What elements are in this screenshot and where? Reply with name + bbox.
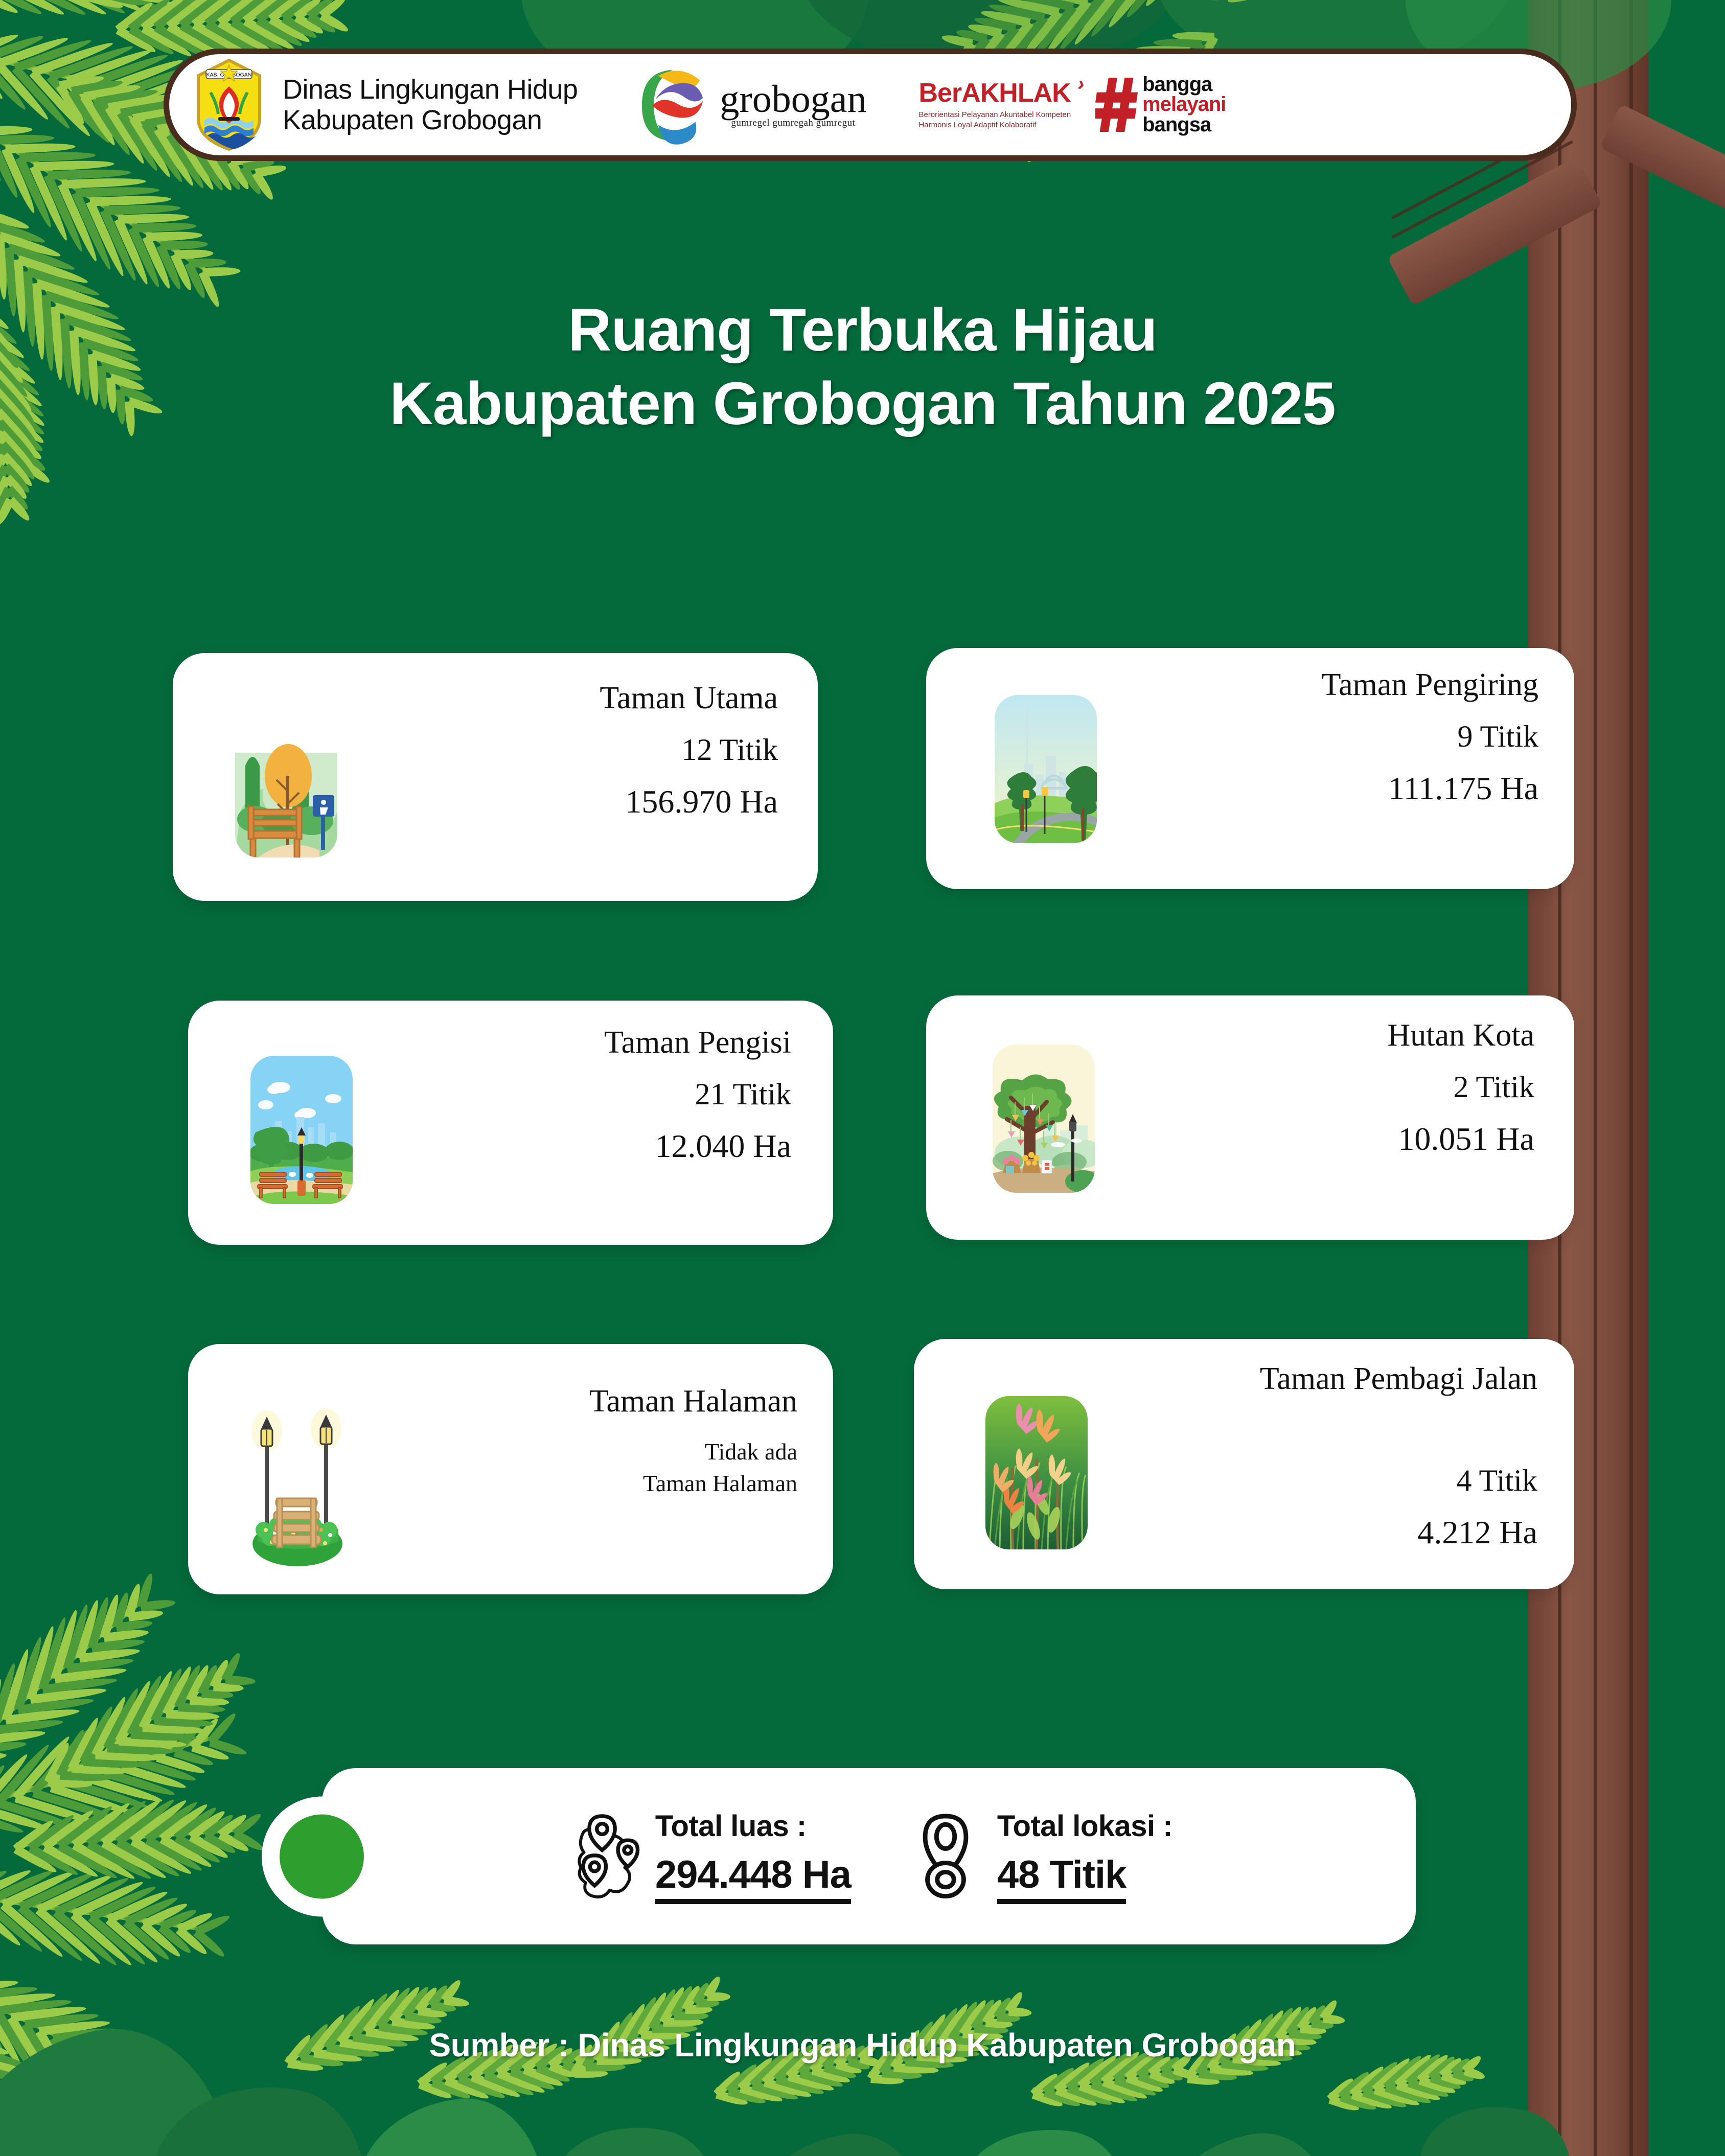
palm-leaflet bbox=[988, 2, 1045, 22]
palm-leaflet bbox=[72, 1879, 145, 1919]
palm-leaflet bbox=[0, 231, 62, 260]
palm-leaflet bbox=[51, 1609, 80, 1680]
palm-leaflet bbox=[189, 258, 227, 268]
palm-leaflet bbox=[282, 14, 318, 40]
palm-leaflet bbox=[997, 0, 1060, 16]
palm-leaflet bbox=[103, 1628, 149, 1642]
palm-leaflet bbox=[123, 1919, 172, 1963]
palm-leaflet bbox=[751, 2081, 799, 2103]
palm-leaflet bbox=[210, 1658, 231, 1689]
palm-leaflet bbox=[118, 213, 190, 224]
palm-leaflet bbox=[121, 1764, 187, 1791]
urban-forest-big-tree-illustration-icon bbox=[993, 1045, 1095, 1193]
palm-leaflet bbox=[5, 142, 76, 153]
palm-leaflet bbox=[0, 1740, 27, 1755]
palm-leaflet bbox=[159, 1907, 198, 1931]
palm-leaflet bbox=[0, 236, 9, 300]
palm-leaflet bbox=[1327, 2076, 1355, 2103]
leaf-shape bbox=[1156, 2123, 1339, 2156]
palm-leaflet bbox=[0, 453, 8, 494]
palm-leaflet bbox=[174, 1834, 222, 1866]
palm-leaflet bbox=[415, 1985, 440, 2014]
palm-leaflet bbox=[221, 1651, 243, 1682]
card-points: 2 Titik bbox=[1177, 1067, 1534, 1107]
palm-leaflet bbox=[1452, 2069, 1475, 2084]
leaf-shape bbox=[350, 2091, 549, 2156]
palm-leaflet bbox=[727, 2087, 766, 2106]
palm-leaflet bbox=[1, 1902, 66, 1960]
palm-leaflet bbox=[232, 1811, 263, 1837]
palm-leaflet bbox=[116, 26, 157, 55]
palm-leaflet bbox=[0, 1997, 72, 2015]
palm-leaflet bbox=[116, 1838, 181, 1880]
palm-leaflet bbox=[428, 1983, 450, 2008]
palm-leaflet bbox=[1056, 0, 1105, 54]
palm-leaflet bbox=[156, 244, 183, 291]
palm-leaflet bbox=[974, 15, 1017, 32]
palm-leaflet bbox=[0, 2154, 9, 2156]
palm-leaflet bbox=[704, 1975, 723, 1999]
palm-leaflet bbox=[119, 1737, 187, 1749]
palm-leaflet bbox=[9, 451, 25, 482]
palm-leaflet bbox=[209, 1738, 248, 1757]
palm-leaflet bbox=[893, 2063, 939, 2075]
palm-leaflet bbox=[189, 1716, 221, 1750]
palm-leaflet bbox=[2, 1648, 32, 1721]
palm-leaflet bbox=[1137, 2072, 1170, 2091]
card-points: 9 Titik bbox=[1170, 716, 1538, 757]
palm-leaflet bbox=[256, 0, 301, 24]
palm-leaflet bbox=[0, 1899, 45, 1955]
palm-leaflet bbox=[764, 2078, 813, 2100]
palm-leaflet bbox=[0, 1978, 18, 1995]
palm-leaflet bbox=[20, 2098, 87, 2124]
palm-leaflet bbox=[1106, 0, 1148, 30]
palm-leaflet bbox=[218, 1812, 249, 1838]
palm-leaflet bbox=[201, 1689, 234, 1700]
palm-leaflet bbox=[29, 2108, 95, 2134]
palm-leaflet bbox=[1088, 0, 1134, 39]
palm-leaflet bbox=[90, 0, 144, 9]
palm-leaflet bbox=[470, 2073, 521, 2100]
palm-leaflet bbox=[100, 1593, 121, 1639]
palm-leaflet bbox=[18, 1904, 85, 1964]
palm-leaflet bbox=[233, 1830, 265, 1853]
palm-leaflet bbox=[48, 1722, 110, 1791]
palm-leaflet bbox=[1351, 2091, 1393, 2112]
palm-leaflet bbox=[0, 1728, 46, 1745]
palm-leaflet bbox=[158, 1924, 193, 1956]
berakhlak-wordmark: BerAKHLAK › bbox=[918, 80, 1071, 106]
palm-leaflet bbox=[574, 2069, 608, 2078]
total-luas-label: Total luas : bbox=[655, 1809, 851, 1843]
palm-leaflet bbox=[1090, 2080, 1138, 2104]
palm-leaflet bbox=[523, 2066, 564, 2089]
palm-leaflet bbox=[0, 130, 4, 183]
palm-leaflet bbox=[243, 17, 296, 53]
palm-leaflet bbox=[1008, 2007, 1032, 2018]
palm-leaflet bbox=[83, 1715, 142, 1780]
palm-leaflet bbox=[1322, 2014, 1345, 2025]
location-pin-icon bbox=[907, 1813, 984, 1900]
palm-leaflet bbox=[174, 249, 213, 259]
palm-leaflet bbox=[145, 1799, 200, 1843]
palm-leaflet bbox=[882, 2069, 923, 2080]
palm-leaflet bbox=[227, 160, 251, 192]
palm-leaflet bbox=[30, 165, 71, 242]
palm-leaflet bbox=[192, 0, 249, 28]
palm-leaflet bbox=[99, 87, 163, 156]
palm-leaflet bbox=[823, 2063, 857, 2080]
palm-leaflet bbox=[72, 1841, 136, 1882]
total-lokasi-value: 48 Titik bbox=[997, 1852, 1126, 1904]
palm-leaflet bbox=[1227, 0, 1265, 5]
palm-leaflet bbox=[994, 1996, 1014, 2020]
page-title: Ruang Terbuka Hijau Kabupaten Grobogan T… bbox=[0, 294, 1725, 441]
palm-leaflet bbox=[0, 134, 55, 145]
palm-leaflet bbox=[225, 1676, 256, 1686]
hashtag-icon bbox=[1095, 77, 1139, 132]
palm-frond bbox=[0, 124, 208, 273]
palm-leaflet bbox=[256, 16, 304, 49]
palm-leaflet bbox=[213, 1682, 244, 1693]
palm-leaflet bbox=[101, 1839, 168, 1882]
palm-leaflet bbox=[549, 2062, 578, 2080]
palm-leaflet bbox=[0, 1799, 73, 1829]
palm-leaflet bbox=[114, 218, 151, 286]
palm-leaflet bbox=[80, 95, 118, 148]
palm-leaflet bbox=[726, 2061, 760, 2094]
palm-leaflet bbox=[47, 74, 112, 146]
palm-leaflet bbox=[307, 13, 337, 35]
palm-leaflet bbox=[306, 0, 335, 20]
palm-leaflet bbox=[202, 267, 241, 277]
palm-leaflet bbox=[57, 1803, 114, 1850]
bangga-melayani-bangsa-logo: bangga melayani bangsa bbox=[1095, 75, 1226, 135]
palm-leaflet bbox=[50, 0, 126, 17]
palm-leaflet bbox=[136, 1715, 181, 1766]
palm-leaflet bbox=[86, 1840, 153, 1882]
palm-leaflet bbox=[50, 1784, 133, 1817]
palm-leaflet bbox=[117, 111, 160, 173]
palm-leaflet bbox=[294, 14, 325, 37]
palm-leaflet bbox=[124, 1894, 179, 1926]
palm-leaflet bbox=[130, 1797, 189, 1845]
palm-leaflet bbox=[294, 0, 323, 21]
palm-leaflet bbox=[536, 2064, 571, 2084]
palm-leaflet bbox=[941, 33, 973, 48]
palm-leaflet bbox=[1430, 2074, 1462, 2092]
palm-leaflet bbox=[136, 1572, 155, 1608]
palm-leaflet bbox=[28, 1812, 76, 1851]
total-lokasi-group: Total lokasi : 48 Titik bbox=[907, 1809, 1172, 1904]
palm-leaflet bbox=[14, 1636, 44, 1711]
palm-leaflet bbox=[0, 1984, 38, 2001]
palm-leaflet bbox=[56, 83, 87, 126]
palm-leaflet bbox=[89, 1883, 157, 1921]
palm-leaflet bbox=[1042, 2065, 1076, 2096]
palm-leaflet bbox=[143, 1723, 206, 1735]
palm-leaflet bbox=[1209, 0, 1253, 4]
palm-leaflet bbox=[319, 0, 348, 19]
palm-leaflet bbox=[4, 475, 29, 501]
palm-frond bbox=[0, 2077, 9, 2156]
palm-leaflet bbox=[48, 1778, 93, 1789]
card-taman-halaman-text: Taman Halaman Tidak ada Taman Halaman bbox=[409, 1381, 797, 1499]
source-footer: Sumber : Dinas Lingkungan Hidup Kabupate… bbox=[0, 2026, 1725, 2064]
palm-leaflet bbox=[119, 1714, 169, 1771]
palm-leaflet bbox=[430, 2001, 456, 2013]
palm-leaflet bbox=[0, 61, 51, 122]
palm-leaflet bbox=[1187, 2074, 1220, 2086]
card-note: Tidak ada Taman Halaman bbox=[409, 1436, 797, 1499]
palm-leaflet bbox=[35, 1907, 103, 1967]
palm-leaflet bbox=[1349, 2064, 1386, 2098]
palm-leaflet bbox=[83, 51, 170, 89]
palm-leaflet bbox=[65, 1718, 126, 1786]
palm-leaflet bbox=[95, 1751, 160, 1763]
palm-leaflet bbox=[714, 2069, 743, 2098]
grobogan-logo: grobogan gumregel gumregah gumregut bbox=[635, 64, 866, 146]
palm-leaflet bbox=[13, 1818, 55, 1853]
palm-leaflet bbox=[0, 498, 14, 526]
palm-leaflet bbox=[29, 69, 93, 139]
palm-leaflet bbox=[11, 2004, 87, 2022]
palm-leaflet bbox=[0, 1751, 7, 1766]
palm-leaflet bbox=[1385, 2083, 1432, 2106]
palm-leaflet bbox=[64, 78, 130, 150]
palm-leaflet bbox=[0, 1662, 18, 1731]
garden-bench-lamps-illustration-icon bbox=[248, 1408, 351, 1572]
card-area: 12.040 Ha bbox=[433, 1125, 791, 1168]
palm-leaflet bbox=[0, 0, 43, 17]
palm-leaflet bbox=[79, 1647, 140, 1662]
flower-median-illustration-icon bbox=[985, 1396, 1088, 1549]
card-title: Taman Halaman bbox=[409, 1381, 797, 1423]
palm-leaflet bbox=[1199, 2069, 1237, 2082]
card-title: Hutan Kota bbox=[1177, 1015, 1534, 1057]
palm-leaflet bbox=[28, 1844, 80, 1878]
palm-leaflet bbox=[42, 1676, 118, 1694]
green-dot-icon bbox=[262, 1796, 382, 1916]
palm-leaflet bbox=[0, 138, 21, 200]
palm-leaflet bbox=[19, 1869, 96, 1912]
palm-leaflet bbox=[106, 2064, 132, 2099]
card-taman-pembagi-jalan-text: Taman Pembagi Jalan 4 Titik 4.212 Ha bbox=[1129, 1358, 1537, 1554]
palm-leaflet bbox=[128, 1609, 163, 1621]
palm-leaflet bbox=[57, 1842, 119, 1882]
palm-leaflet bbox=[174, 1748, 215, 1768]
palm-leaflet bbox=[1067, 2084, 1113, 2108]
palm-leaflet bbox=[5, 1707, 80, 1725]
palm-leaflet bbox=[17, 0, 87, 18]
palm-leaflet bbox=[49, 42, 134, 81]
palm-leaflet bbox=[0, 2143, 5, 2156]
palm-frond bbox=[15, 1824, 235, 1850]
card-taman-pengiring: Taman Pengiring 9 Titik 111.175 Ha bbox=[926, 648, 1574, 889]
palm-leaflet bbox=[132, 222, 196, 233]
palm-leaflet bbox=[319, 12, 350, 34]
header-logo-bar: KAB. GROBOGAN Dinas Lingkungan Hidup Kab… bbox=[164, 49, 1577, 161]
palm-leaflet bbox=[154, 1717, 214, 1728]
palm-leaflet bbox=[1078, 2082, 1126, 2106]
palm-leaflet bbox=[65, 2149, 113, 2156]
palm-leaflet bbox=[716, 2090, 749, 2107]
palm-leaflet bbox=[141, 25, 193, 60]
card-hutan-kota: Hutan Kota 2 Titik 10.051 Ha bbox=[926, 995, 1574, 1240]
palm-leaflet bbox=[141, 0, 190, 32]
palm-leaflet bbox=[1328, 2095, 1360, 2113]
palm-leaflet bbox=[123, 2064, 158, 2077]
total-lokasi-label: Total lokasi : bbox=[997, 1809, 1172, 1843]
palm-leaflet bbox=[88, 1914, 148, 1967]
palm-leaflet bbox=[240, 165, 264, 196]
palm-leaflet bbox=[0, 1742, 52, 1806]
tree-branch bbox=[1387, 156, 1603, 306]
palm-leaflet bbox=[12, 1734, 72, 1801]
palm-leaflet bbox=[107, 1888, 169, 1923]
card-title: Taman Pembagi Jalan bbox=[1129, 1358, 1537, 1400]
palm-leaflet bbox=[115, 1679, 153, 1743]
palm-leaflet bbox=[444, 1996, 469, 2008]
palm-leaflet bbox=[107, 1744, 174, 1756]
palm-leaflet bbox=[83, 1757, 145, 1769]
palm-leaflet bbox=[166, 1710, 220, 1721]
palm-leaflet bbox=[2, 147, 38, 215]
palm-leaflet bbox=[997, 2013, 1020, 2023]
palm-frond bbox=[0, 1886, 197, 1933]
palm-leaflet bbox=[177, 1910, 214, 1934]
palm-leaflet bbox=[0, 2072, 7, 2134]
palm-leaflet bbox=[444, 2076, 490, 2101]
palm-leaflet bbox=[130, 1837, 193, 1877]
card-title: Taman Utama bbox=[420, 678, 778, 720]
palm-leaflet bbox=[179, 0, 236, 29]
palm-leaflet bbox=[93, 100, 133, 157]
total-summary-card: Total luas : 294.448 Ha Total lokasi : 4… bbox=[322, 1768, 1416, 1944]
palm-leaflet bbox=[376, 1985, 413, 2029]
palm-leaflet bbox=[659, 1985, 687, 2025]
leaf-shape bbox=[139, 2068, 382, 2156]
palm-leaflet bbox=[203, 1832, 237, 1856]
palm-leaflet bbox=[418, 2006, 448, 2019]
palm-leaflet bbox=[189, 1833, 230, 1861]
palm-leaflet bbox=[62, 2152, 78, 2156]
palm-frond bbox=[43, 1672, 225, 1782]
palm-leaflet bbox=[91, 1695, 129, 1757]
palm-leaflet bbox=[1340, 2093, 1377, 2113]
palm-leaflet bbox=[1396, 2081, 1441, 2103]
palm-leaflet bbox=[35, 2122, 53, 2156]
palm-leaflet bbox=[1020, 0, 1089, 6]
palm-leaflet bbox=[243, 0, 292, 25]
palm-leaflet bbox=[44, 1741, 72, 1784]
palm-leaflet bbox=[1149, 2070, 1176, 2087]
palm-leaflet bbox=[674, 2011, 708, 2020]
grobogan-regency-emblem-icon: KAB. GROBOGAN bbox=[191, 59, 267, 151]
palm-leaflet bbox=[193, 1929, 226, 1959]
palm-leaflet bbox=[174, 1663, 203, 1709]
caret-icon: › bbox=[1076, 73, 1086, 95]
palm-leaflet bbox=[510, 2067, 556, 2093]
leaf-shape bbox=[953, 2117, 1138, 2156]
palm-leaflet bbox=[48, 168, 131, 180]
palm-leaflet bbox=[103, 1769, 176, 1798]
palm-leaflet bbox=[707, 1992, 730, 2001]
palm-leaflet bbox=[17, 256, 89, 286]
card-taman-pengisi-text: Taman Pengisi 21 Titik 12.040 Ha bbox=[433, 1022, 791, 1168]
palm-leaflet bbox=[90, 195, 171, 206]
palm-leaflet bbox=[1054, 2060, 1092, 2094]
palm-leaflet bbox=[799, 2069, 844, 2090]
palm-leaflet bbox=[54, 1874, 130, 1916]
palm-leaflet bbox=[38, 1616, 68, 1691]
palm-leaflet bbox=[59, 74, 105, 90]
palm-leaflet bbox=[71, 1912, 134, 1968]
palm-leaflet bbox=[31, 39, 114, 77]
palm-leaflet bbox=[1125, 2074, 1164, 2095]
palm-leaflet bbox=[166, 0, 221, 30]
palm-leaflet bbox=[176, 1927, 209, 1957]
palm-leaflet bbox=[58, 182, 100, 263]
palm-leaflet bbox=[54, 1666, 127, 1683]
card-area: 111.175 Ha bbox=[1170, 767, 1538, 810]
palm-leaflet bbox=[116, 0, 187, 5]
palm-leaflet bbox=[787, 2072, 835, 2094]
palm-leaflet bbox=[967, 22, 1002, 37]
palm-leaflet bbox=[496, 2069, 546, 2096]
palm-leaflet bbox=[0, 208, 30, 231]
palm-leaflet bbox=[1030, 2071, 1060, 2097]
card-taman-pembagi-jalan: Taman Pembagi Jalan 4 Titik 4.212 Ha bbox=[914, 1339, 1574, 1589]
palm-leaflet bbox=[1418, 2076, 1457, 2096]
palm-leaflet bbox=[955, 28, 987, 42]
palm-leaflet bbox=[26, 2112, 44, 2156]
palm-leaflet bbox=[67, 0, 144, 15]
palm-leaflet bbox=[96, 87, 158, 106]
bangsa-text: bangsa bbox=[1142, 115, 1226, 135]
palm-frond bbox=[1328, 2061, 1465, 2100]
palm-frond bbox=[0, 1733, 211, 1819]
palm-leaflet bbox=[1161, 2068, 1184, 2083]
tree-branch bbox=[1600, 104, 1725, 215]
palm-leaflet bbox=[44, 174, 86, 253]
palm-leaflet bbox=[103, 1686, 142, 1750]
palm-leaflet bbox=[13, 1845, 58, 1875]
department-name: Dinas Lingkungan Hidup Kabupaten Groboga… bbox=[283, 74, 578, 136]
palm-leaflet bbox=[388, 1984, 422, 2024]
palm-leaflet bbox=[0, 1991, 56, 2008]
lakeside-park-benches-illustration-icon bbox=[250, 1056, 353, 1204]
palm-leaflet bbox=[42, 1807, 96, 1851]
grobogan-swirl-logo-icon bbox=[635, 64, 711, 146]
palm-leaflet bbox=[80, 1705, 116, 1764]
palm-frond bbox=[1031, 2060, 1174, 2095]
palm-leaflet bbox=[26, 1625, 57, 1701]
palm-leaflet bbox=[0, 0, 20, 16]
palm-leaflet bbox=[1361, 2059, 1400, 2095]
palm-leaflet bbox=[693, 1981, 711, 2005]
bangga-text: bangga bbox=[1142, 75, 1226, 95]
palm-leaflet bbox=[982, 1998, 1004, 2025]
palm-leaflet bbox=[159, 1835, 213, 1870]
palm-leaflet bbox=[0, 34, 70, 68]
palm-leaflet bbox=[47, 2129, 106, 2152]
palm-leaflet bbox=[56, 1728, 87, 1777]
palm-leaflet bbox=[0, 465, 10, 499]
palm-leaflet bbox=[100, 0, 174, 9]
card-title: Taman Pengiring bbox=[1170, 664, 1538, 706]
